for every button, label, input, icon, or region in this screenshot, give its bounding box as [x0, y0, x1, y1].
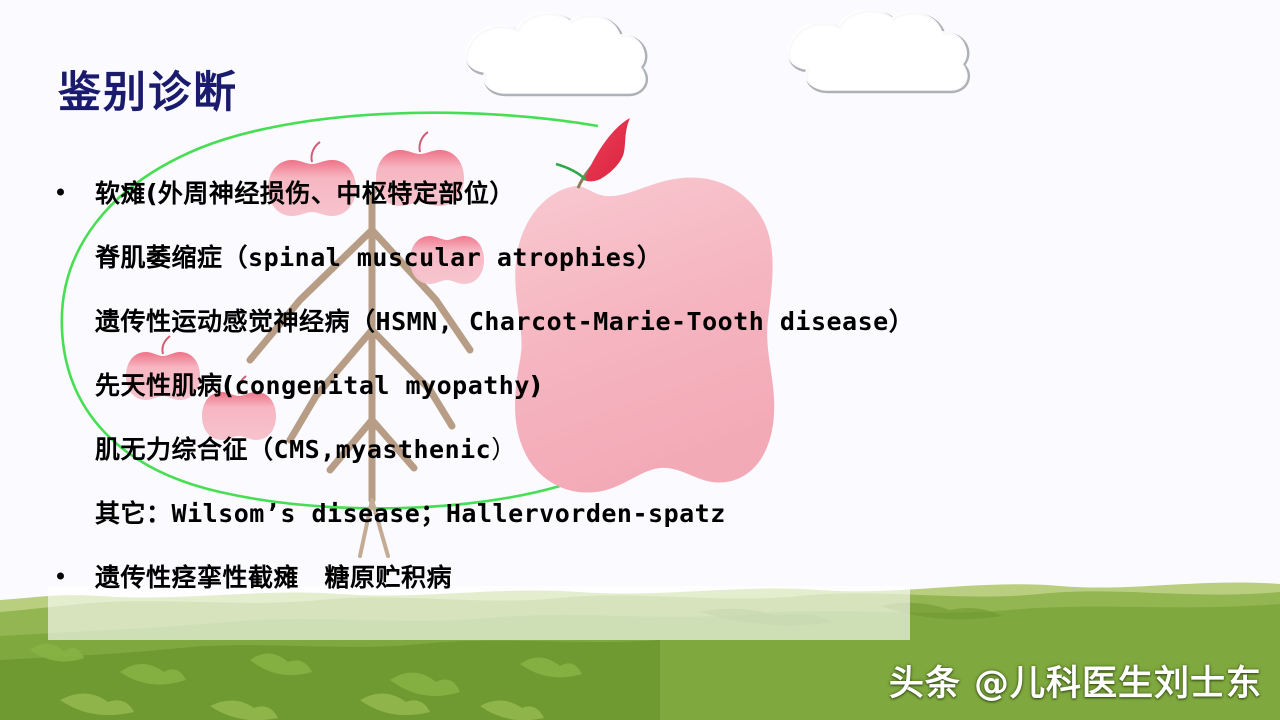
page-title: 鉴别诊断 — [58, 58, 238, 120]
list-item-text-tail: ） — [637, 243, 663, 272]
list-item: 脊肌萎缩症（spinal muscular atrophies） — [0, 224, 1280, 288]
list-item-text-tail: ） — [491, 435, 517, 464]
content-list: 软瘫(外周神经损伤、中枢特定部位） 脊肌萎缩症（spinal muscular … — [0, 160, 1280, 608]
list-item-text-cn: 遗传性运动感觉神经病（ — [95, 307, 376, 336]
list-item-text-en: congenital myopathy — [234, 371, 529, 400]
list-item: 遗传性痉挛性截瘫 糖原贮积病 — [0, 544, 1280, 608]
list-item-text-tail: ） — [889, 307, 915, 336]
list-item-text: 先天性肌病(congenital myopathy) — [95, 366, 542, 402]
list-item-text-en2: Hallervorden-spatz — [446, 499, 726, 528]
slide-canvas: 鉴别诊断 软瘫(外周神经损伤、中枢特定部位） 脊肌萎缩症（spinal musc… — [0, 0, 1280, 720]
list-item-text: 软瘫(外周神经损伤、中枢特定部位） — [95, 174, 515, 210]
list-item-text-en: HSMN, Charcot-Marie-Tooth disease — [376, 307, 889, 336]
list-item-text-en: spinal muscular atrophies — [248, 243, 637, 272]
list-item: 先天性肌病(congenital myopathy) — [0, 352, 1280, 416]
list-item: 软瘫(外周神经损伤、中枢特定部位） — [0, 160, 1280, 224]
list-item-text-cn: 其它： — [95, 499, 172, 528]
bullet-icon — [57, 189, 64, 196]
list-item-text-en: Wilsom’s disease — [172, 499, 421, 528]
list-item-text-tail: ) — [530, 371, 542, 400]
list-item: 其它：Wilsom’s disease；Hallervorden-spatz — [0, 480, 1280, 544]
list-item-text-mid: ； — [420, 499, 446, 528]
list-item: 肌无力综合征（CMS,myasthenic） — [0, 416, 1280, 480]
list-item-text: 其它：Wilsom’s disease；Hallervorden-spatz — [95, 494, 726, 530]
list-item-text-cn: 先天性肌病( — [95, 371, 234, 400]
list-item-text: 肌无力综合征（CMS,myasthenic） — [95, 430, 517, 466]
list-item-text: 遗传性运动感觉神经病（HSMN, Charcot-Marie-Tooth dis… — [95, 302, 914, 338]
list-item-text: 脊肌萎缩症（spinal muscular atrophies） — [95, 238, 662, 274]
watermark-text: 头条 @儿科医生刘士东 — [889, 655, 1262, 706]
list-item: 遗传性运动感觉神经病（HSMN, Charcot-Marie-Tooth dis… — [0, 288, 1280, 352]
list-item-text-en: CMS,myasthenic — [274, 435, 492, 464]
list-item-text: 遗传性痉挛性截瘫 糖原贮积病 — [95, 558, 452, 594]
bullet-icon — [57, 573, 64, 580]
list-item-text-cn: 脊肌萎缩症（ — [95, 243, 248, 272]
list-item-text-cn: 肌无力综合征（ — [95, 435, 274, 464]
